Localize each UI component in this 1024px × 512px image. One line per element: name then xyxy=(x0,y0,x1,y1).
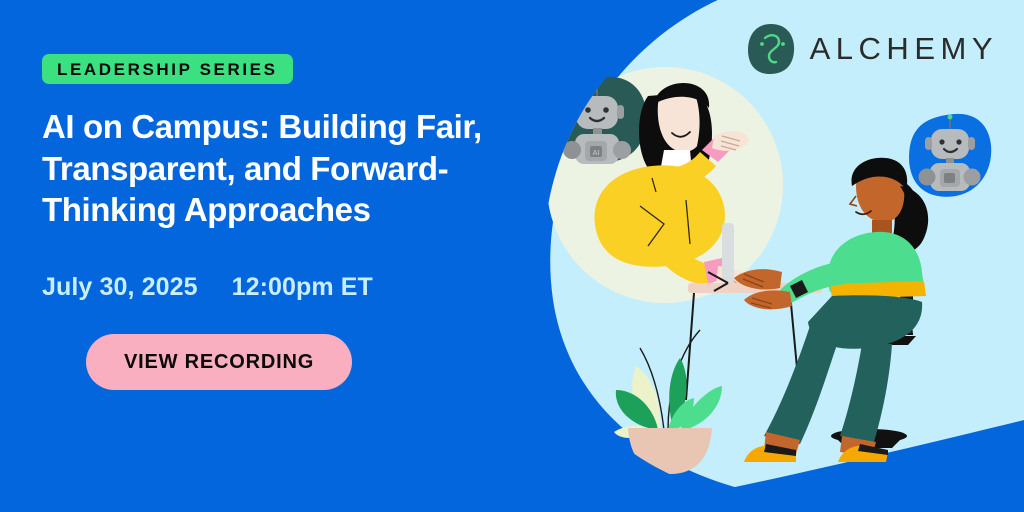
webinar-promo-banner: AI xyxy=(0,0,1024,512)
alchemy-mark-icon xyxy=(746,22,796,76)
page-title: AI on Campus: Building Fair, Transparent… xyxy=(42,106,522,231)
alchemy-logo[interactable]: ALCHEMY xyxy=(746,22,998,76)
event-datetime: July 30, 2025 12:00pm ET xyxy=(42,273,522,302)
svg-text:AI: AI xyxy=(593,149,600,157)
event-date: July 30, 2025 xyxy=(42,273,198,302)
view-recording-button[interactable]: VIEW RECORDING xyxy=(86,334,352,390)
series-badge: LEADERSHIP SERIES xyxy=(42,54,293,84)
cta-container: VIEW RECORDING xyxy=(42,334,522,390)
promo-text-column: LEADERSHIP SERIES AI on Campus: Building… xyxy=(42,54,522,390)
event-time: 12:00pm ET xyxy=(232,273,373,302)
alchemy-wordmark: ALCHEMY xyxy=(810,31,998,67)
